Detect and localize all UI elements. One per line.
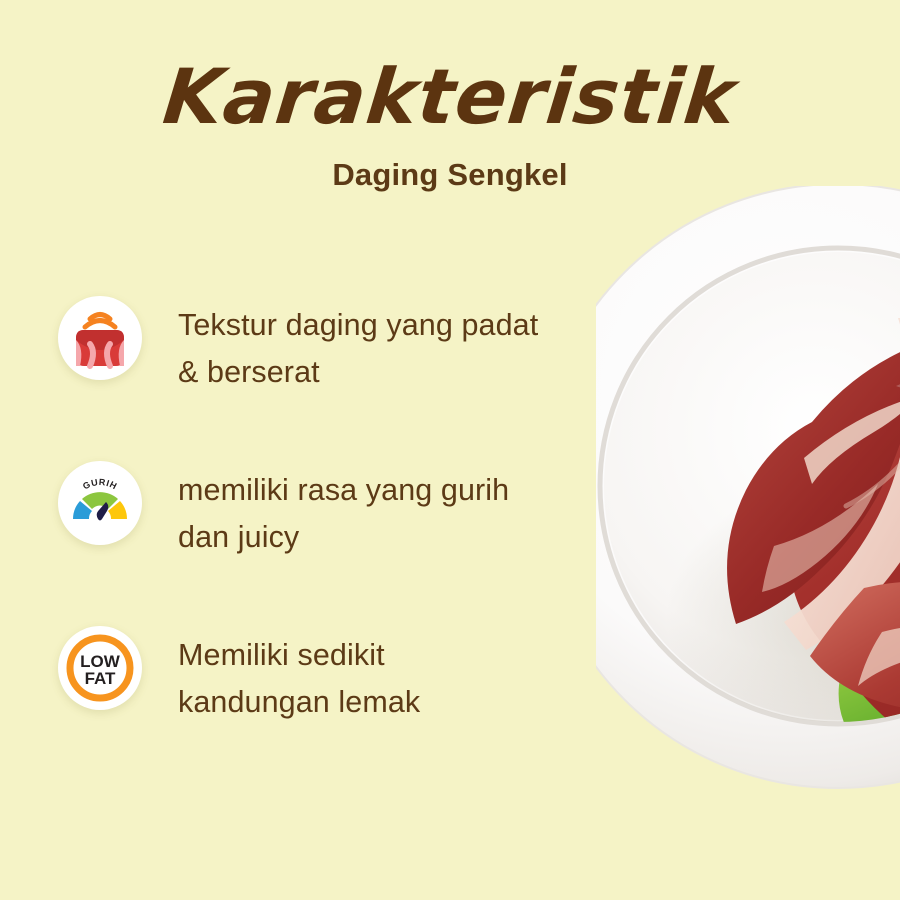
low-fat-icon: LOW FAT (58, 626, 142, 710)
feature-text-texture: Tekstur daging yang padat & berserat (178, 296, 598, 396)
feature-item-flavor: GURIH memiliki rasa yang gurih dan juicy (58, 461, 598, 626)
feature-list: Tekstur daging yang padat & berserat (58, 296, 598, 791)
feature-text-lowfat: Memiliki sedikit kandungan lemak (178, 626, 598, 726)
meat-cut-icon (58, 296, 142, 380)
poster-canvas: Karakteristik Daging Sengkel (0, 0, 900, 900)
feature-text-flavor: memiliki rasa yang gurih dan juicy (178, 461, 598, 561)
header: Karakteristik Daging Sengkel (0, 52, 900, 194)
gurih-label: GURIH (81, 477, 119, 492)
feature-item-lowfat: LOW FAT Memiliki sedikit kandungan lemak (58, 626, 598, 791)
page-title: Karakteristik (0, 52, 900, 142)
svg-text:GURIH: GURIH (81, 477, 119, 492)
low-fat-label-line2: FAT (85, 669, 116, 688)
raw-beef-shank-photo (596, 186, 900, 806)
gurih-gauge-icon: GURIH (58, 461, 142, 545)
page-subtitle: Daging Sengkel (0, 156, 900, 194)
feature-item-texture: Tekstur daging yang padat & berserat (58, 296, 598, 461)
